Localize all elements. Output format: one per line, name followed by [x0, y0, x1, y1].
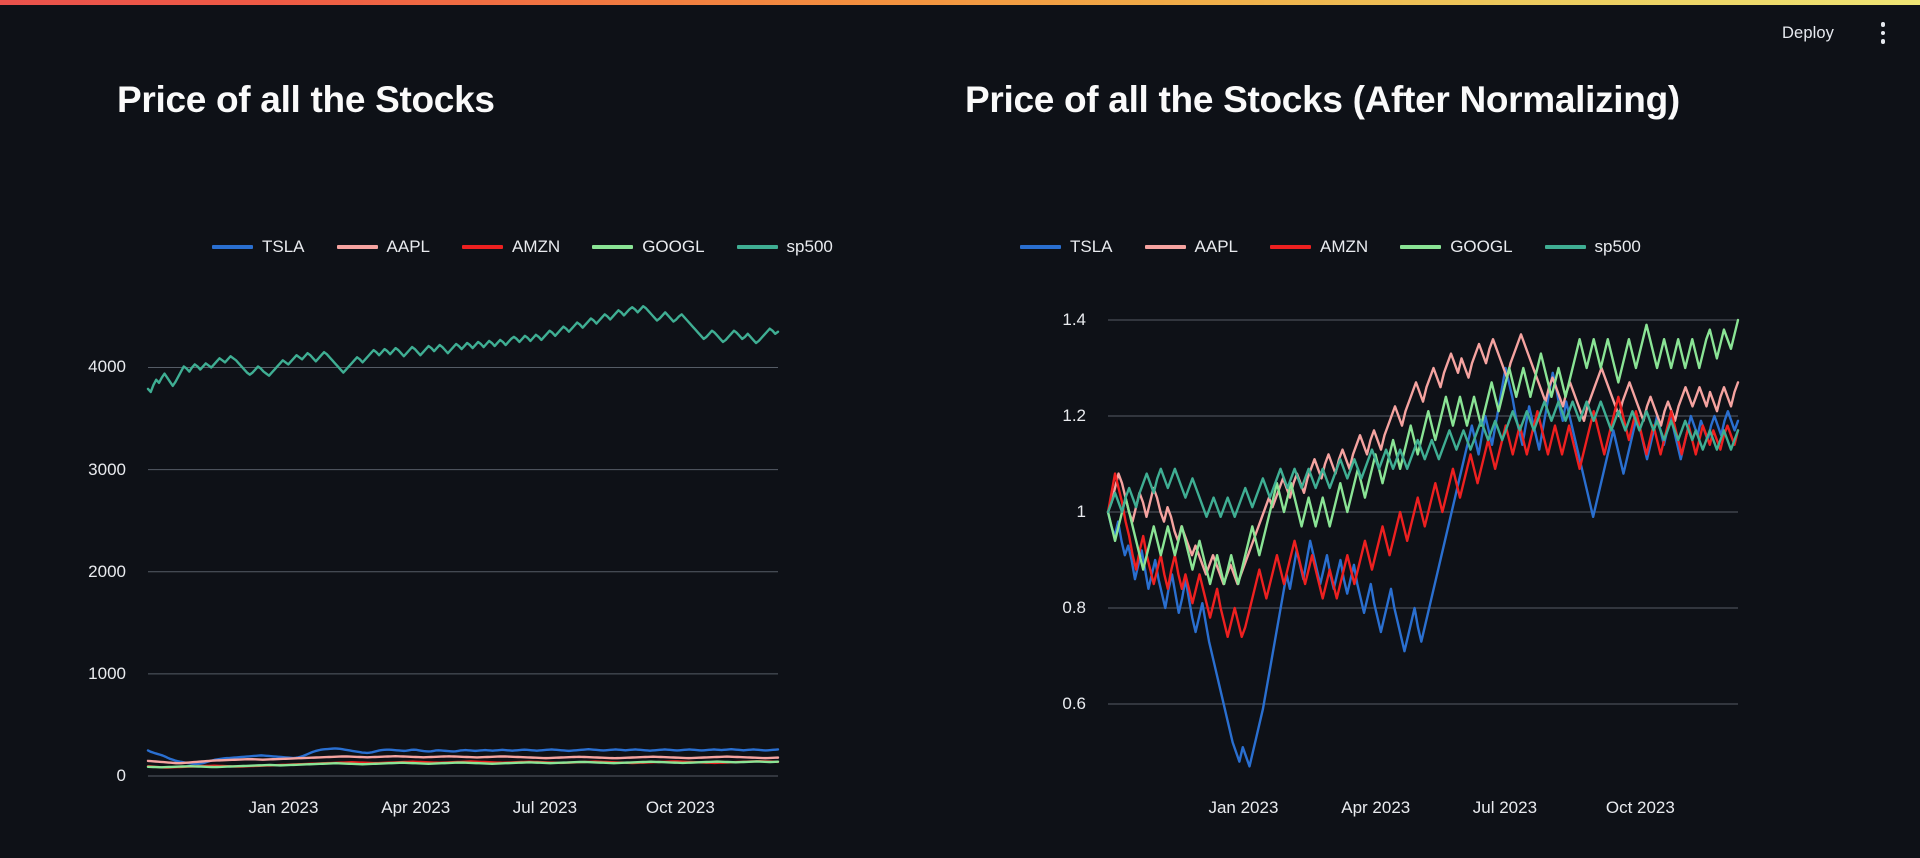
legend-item-sp500[interactable]: sp500	[737, 237, 833, 257]
legend-label: GOOGL	[1450, 237, 1512, 257]
legend-label: TSLA	[1070, 237, 1113, 257]
x-axis-tick-label: Oct 2023	[1606, 798, 1675, 818]
x-axis-tick-label: Jul 2023	[513, 798, 577, 818]
x-axis-tick-label: Apr 2023	[381, 798, 450, 818]
legend-label: AMZN	[512, 237, 560, 257]
legend-swatch-googl	[592, 245, 633, 249]
legend-swatch-tsla	[1020, 245, 1061, 249]
chart-legend: TSLAAAPLAMZNGOOGLsp500	[212, 237, 833, 257]
legend-label: AAPL	[387, 237, 430, 257]
page-title: Price of all the Stocks	[117, 79, 495, 121]
legend-item-googl[interactable]: GOOGL	[1400, 237, 1512, 257]
legend-item-amzn[interactable]: AMZN	[462, 237, 560, 257]
series-line-sp500	[148, 306, 778, 392]
legend-item-aapl[interactable]: AAPL	[337, 237, 430, 257]
x-axis-tick-label: Jan 2023	[248, 798, 318, 818]
app-header: Deploy	[0, 5, 1920, 61]
x-axis-tick-label: Apr 2023	[1341, 798, 1410, 818]
menu-dot	[1881, 31, 1886, 36]
x-axis-labels: Jan 2023Apr 2023Jul 2023Oct 2023	[930, 798, 1760, 828]
menu-dot	[1881, 22, 1886, 27]
menu-dot	[1881, 39, 1886, 44]
chart-legend-normalized: TSLAAAPLAMZNGOOGLsp500	[1020, 237, 1641, 257]
legend-item-tsla[interactable]: TSLA	[212, 237, 305, 257]
legend-swatch-amzn	[462, 245, 503, 249]
legend-swatch-aapl	[1145, 245, 1186, 249]
series-line-aapl	[1108, 334, 1738, 584]
x-axis-labels: Jan 2023Apr 2023Jul 2023Oct 2023	[0, 798, 800, 828]
x-axis-tick-label: Jul 2023	[1473, 798, 1537, 818]
x-axis-tick-label: Oct 2023	[646, 798, 715, 818]
series-line-googl	[148, 762, 778, 768]
legend-item-tsla[interactable]: TSLA	[1020, 237, 1113, 257]
legend-swatch-tsla	[212, 245, 253, 249]
chart-svg	[930, 276, 1760, 836]
x-axis-tick-label: Jan 2023	[1208, 798, 1278, 818]
legend-label: GOOGL	[642, 237, 704, 257]
chart-svg	[0, 276, 800, 836]
legend-swatch-aapl	[337, 245, 378, 249]
legend-item-sp500[interactable]: sp500	[1545, 237, 1641, 257]
legend-swatch-googl	[1400, 245, 1441, 249]
legend-swatch-sp500	[1545, 245, 1586, 249]
legend-swatch-amzn	[1270, 245, 1311, 249]
chart-panel-normalized: Price of all the Stocks (After Normalizi…	[960, 61, 1920, 858]
chart-panel-prices: Price of all the Stocks TSLAAAPLAMZNGOOG…	[0, 61, 960, 858]
legend-item-amzn[interactable]: AMZN	[1270, 237, 1368, 257]
legend-item-aapl[interactable]: AAPL	[1145, 237, 1238, 257]
legend-label: AAPL	[1195, 237, 1238, 257]
charts-container: Price of all the Stocks TSLAAAPLAMZNGOOG…	[0, 61, 1920, 858]
series-line-sp500	[1108, 402, 1738, 517]
deploy-button[interactable]: Deploy	[1772, 18, 1844, 49]
legend-swatch-sp500	[737, 245, 778, 249]
legend-label: TSLA	[262, 237, 305, 257]
more-vertical-icon[interactable]	[1866, 16, 1900, 50]
page-title-normalized: Price of all the Stocks (After Normalizi…	[965, 79, 1680, 121]
price-chart-plot: 01000200030004000Jan 2023Apr 2023Jul 202…	[0, 276, 800, 836]
legend-item-googl[interactable]: GOOGL	[592, 237, 704, 257]
legend-label: sp500	[1595, 237, 1641, 257]
legend-label: AMZN	[1320, 237, 1368, 257]
legend-label: sp500	[787, 237, 833, 257]
normalized-chart-plot: 0.60.811.21.4Jan 2023Apr 2023Jul 2023Oct…	[930, 276, 1760, 836]
